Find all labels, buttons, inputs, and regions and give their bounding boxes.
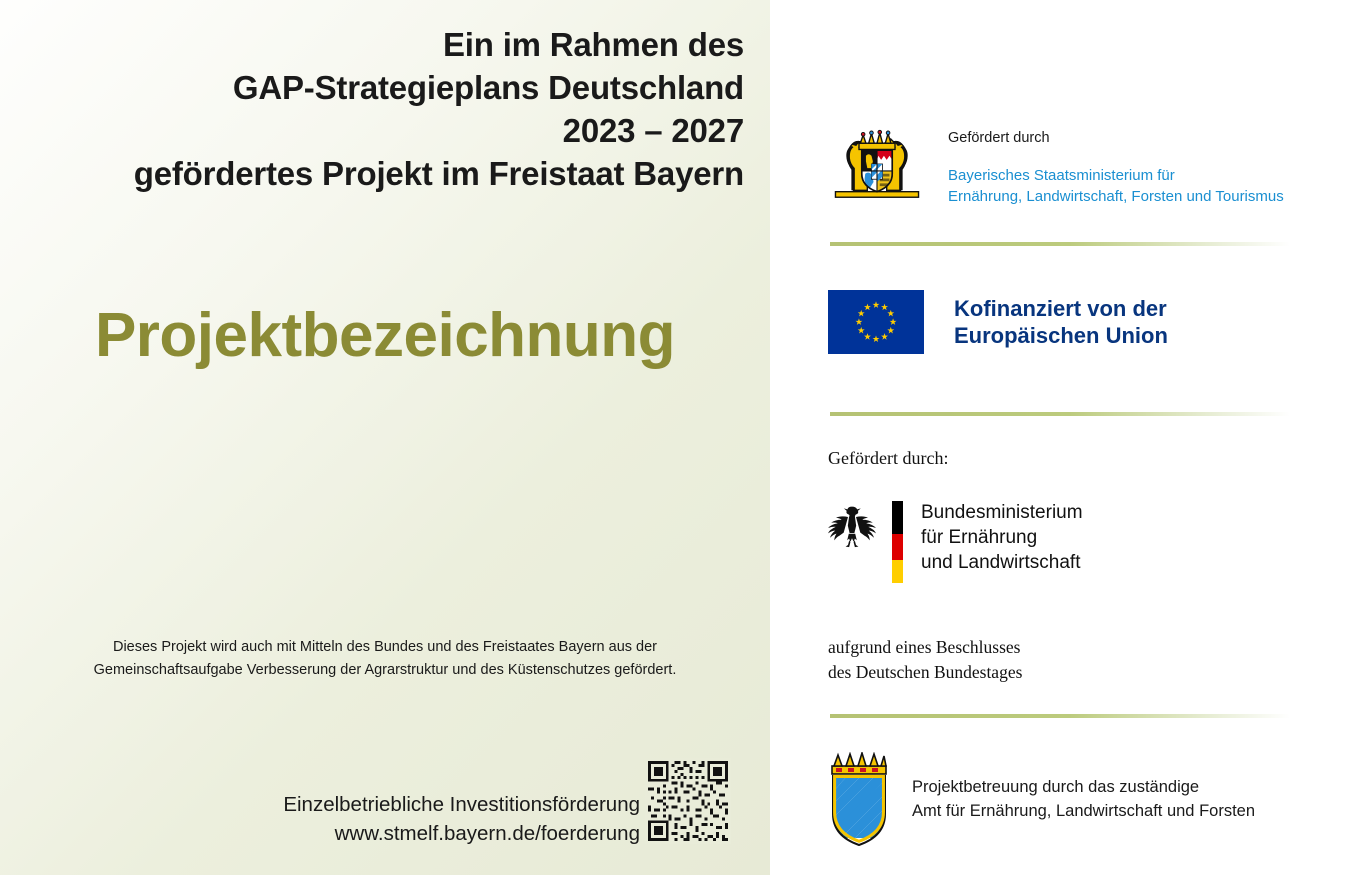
aelf-logo-block: Projektbetreuung durch das zuständige Am…	[828, 752, 1255, 848]
eu-text-line-1: Kofinanziert von der	[954, 295, 1168, 323]
bmel-ministry-line-2: für Ernährung	[921, 526, 1083, 551]
divider-3	[830, 714, 1290, 718]
funding-note-line-2: Gemeinschaftsaufgabe Verbesserung der Ag…	[20, 659, 750, 682]
programme-url[interactable]: www.stmelf.bayern.de/foerderung	[200, 819, 640, 848]
bmel-funded-by-label: Gefördert durch:	[828, 448, 1083, 469]
bmel-logo-block: Gefördert durch:	[828, 448, 1083, 684]
bundestag-resolution-note: aufgrund eines Beschlusses des Deutschen…	[828, 635, 1083, 684]
german-flag-bar-icon	[892, 501, 903, 583]
project-title: Projektbezeichnung	[0, 300, 770, 371]
bayern-coat-of-arms-icon	[828, 128, 926, 200]
headline: Ein im Rahmen des GAP-Strategieplans Deu…	[32, 24, 744, 196]
programme-info: Einzelbetriebliche Investitionsförderung…	[200, 790, 640, 848]
stmelf-logo-block: Gefördert durch Bayerisches Staatsminist…	[828, 128, 1284, 207]
eu-logo-block: Kofinanziert von der Europäischen Union	[828, 290, 1168, 354]
programme-name: Einzelbetriebliche Investitionsförderung	[200, 790, 640, 819]
divider-1	[830, 242, 1290, 246]
eu-text-line-2: Europäischen Union	[954, 322, 1168, 350]
funding-note-line-1: Dieses Projekt wird auch mit Mitteln des…	[20, 636, 750, 659]
bmel-ministry-line-1: Bundesministerium	[921, 501, 1083, 526]
headline-line-1: Ein im Rahmen des	[32, 24, 744, 67]
bavaria-shield-icon	[828, 752, 890, 848]
poster: Ein im Rahmen des GAP-Strategieplans Deu…	[0, 0, 1352, 875]
right-panel: Gefördert durch Bayerisches Staatsminist…	[770, 0, 1352, 875]
bundestag-resolution-line-2: des Deutschen Bundestages	[828, 660, 1083, 685]
divider-2	[830, 412, 1290, 416]
bundestag-resolution-line-1: aufgrund eines Beschlusses	[828, 635, 1083, 660]
federal-eagle-icon	[828, 503, 876, 555]
european-union-flag-icon	[828, 290, 924, 354]
stmelf-ministry-line-1: Bayerisches Staatsministerium für	[948, 166, 1284, 187]
aelf-line-2: Amt für Ernährung, Landwirtschaft und Fo…	[912, 800, 1255, 824]
aelf-line-1: Projektbetreuung durch das zuständige	[912, 776, 1255, 800]
qr-code-icon[interactable]	[645, 758, 731, 844]
left-panel: Ein im Rahmen des GAP-Strategieplans Deu…	[0, 0, 770, 875]
funding-note: Dieses Projekt wird auch mit Mitteln des…	[20, 636, 750, 682]
bmel-ministry-line-3: und Landwirtschaft	[921, 551, 1083, 576]
headline-line-4: gefördertes Projekt im Freistaat Bayern	[32, 153, 744, 196]
stmelf-funded-by-label: Gefördert durch	[948, 130, 1284, 146]
stmelf-ministry-line-2: Ernährung, Landwirtschaft, Forsten und T…	[948, 187, 1284, 208]
headline-line-2: GAP-Strategieplans Deutschland	[32, 67, 744, 110]
headline-line-3: 2023 – 2027	[32, 110, 744, 153]
